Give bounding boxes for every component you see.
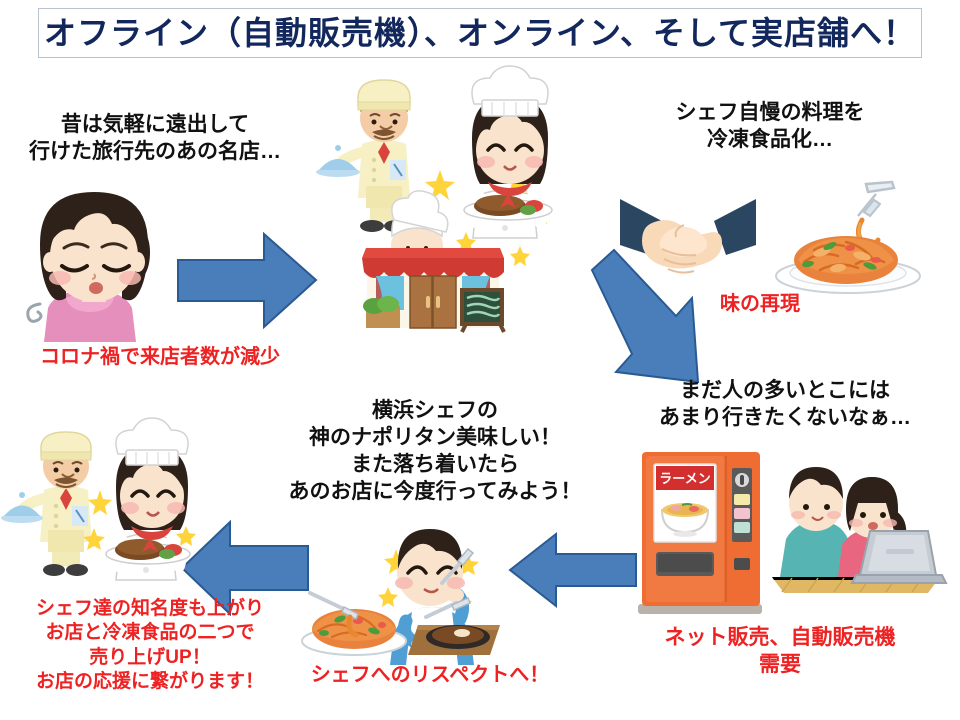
two-chefs-illustration bbox=[8, 432, 208, 607]
slide-title-box: オフライン（自動販売機）、オンライン、そして実店舗へ！ bbox=[38, 8, 922, 58]
text-net-sales-demand: ネット販売、自動販売機 需要 bbox=[605, 625, 955, 679]
napolitan-spaghetti-plate-illustration bbox=[770, 180, 935, 300]
arrow-right-icon bbox=[178, 228, 318, 333]
text-chef-frozen-food: シェフ自慢の料理を 冷凍食品化… bbox=[620, 100, 920, 154]
page-title: オフライン（自動販売機）、オンライン、そして実店舗へ！ bbox=[44, 17, 916, 49]
text-taste-reproduction: 味の再現 bbox=[680, 292, 840, 318]
sad-girl-illustration bbox=[10, 182, 185, 342]
chefs-and-restaurant-illustration bbox=[322, 78, 587, 328]
text-yokohama-chef-message: 横浜シェフの 神のナポリタン美味しい！ また落ち着いたら あのお店に今度行ってみ… bbox=[255, 398, 615, 506]
couple-with-laptop-illustration bbox=[768, 465, 948, 605]
person-eating-spaghetti-illustration bbox=[302, 525, 517, 670]
text-sales-up-result: シェフ達の知名度も上がり お店と冷凍食品の二つで 売り上げUP！ お店の応援に繋… bbox=[0, 597, 300, 694]
ramen-vending-machine-illustration: ラーメン bbox=[632, 448, 772, 618]
arrow-left-middle-icon bbox=[508, 530, 638, 610]
text-avoid-crowds: まだ人の多いとこには あまり行きたくないなぁ… bbox=[620, 378, 950, 432]
text-past-trip: 昔は気軽に遠出して 行けた旅行先のあの名店… bbox=[10, 112, 300, 166]
vending-sign-label: ラーメン bbox=[659, 471, 710, 486]
text-corona-decline: コロナ禍で来店者数が減少 bbox=[0, 345, 320, 371]
arrow-down-right-icon bbox=[588, 248, 723, 388]
text-respect-to-chef: シェフへのリスペクトへ！ bbox=[295, 663, 565, 689]
slide-canvas: オフライン（自動販売機）、オンライン、そして実店舗へ！ 昔は気軽に遠出して 行け… bbox=[0, 0, 960, 720]
